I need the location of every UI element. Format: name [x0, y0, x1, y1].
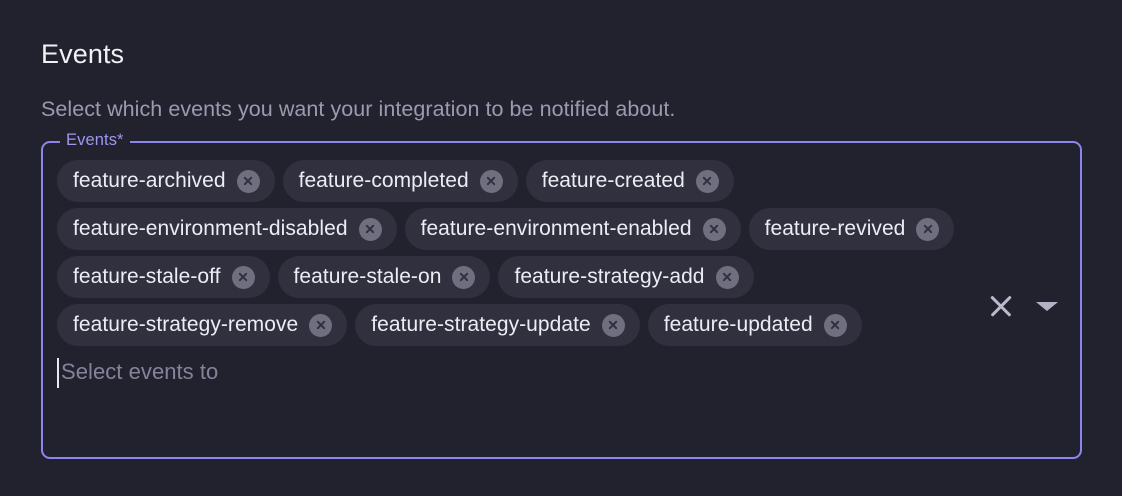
events-field-legend: Events* [60, 132, 130, 149]
events-settings-page: Events Select which events you want your… [0, 0, 1122, 496]
circle-x-icon[interactable] [237, 170, 260, 193]
event-chip-label: feature-updated [664, 314, 813, 335]
event-chip-label: feature-archived [73, 170, 226, 191]
event-chip-label: feature-stale-on [294, 266, 442, 287]
circle-x-icon[interactable] [696, 170, 719, 193]
event-chip-label: feature-strategy-add [514, 266, 704, 287]
text-caret [57, 358, 59, 388]
circle-x-icon[interactable] [916, 218, 939, 241]
event-chip-label: feature-stale-off [73, 266, 221, 287]
event-chip[interactable]: feature-completed [283, 160, 518, 202]
circle-x-icon[interactable] [703, 218, 726, 241]
page-description: Select which events you want your integr… [41, 96, 1082, 124]
event-chip[interactable]: feature-strategy-add [498, 256, 753, 298]
circle-x-icon[interactable] [480, 170, 503, 193]
event-chip-label: feature-environment-disabled [73, 218, 348, 239]
circle-x-icon[interactable] [309, 314, 332, 337]
event-chip[interactable]: feature-stale-off [57, 256, 270, 298]
event-chip[interactable]: feature-strategy-remove [57, 304, 347, 346]
circle-x-icon[interactable] [716, 266, 739, 289]
select-controls [988, 293, 1058, 319]
event-chip[interactable]: feature-revived [749, 208, 955, 250]
event-chip[interactable]: feature-strategy-update [355, 304, 639, 346]
events-search-input[interactable]: Select events to [57, 352, 956, 394]
event-chip-label: feature-environment-enabled [421, 218, 692, 239]
event-chip[interactable]: feature-environment-enabled [405, 208, 741, 250]
event-chip-label: feature-strategy-remove [73, 314, 298, 335]
page-title: Events [41, 38, 1082, 70]
event-chip[interactable]: feature-stale-on [278, 256, 491, 298]
circle-x-icon[interactable] [824, 314, 847, 337]
event-chip-label: feature-completed [299, 170, 469, 191]
clear-all-icon[interactable] [988, 293, 1014, 319]
event-chip-label: feature-created [542, 170, 685, 191]
circle-x-icon[interactable] [602, 314, 625, 337]
event-chip-label: feature-revived [765, 218, 906, 239]
circle-x-icon[interactable] [232, 266, 255, 289]
chevron-down-icon[interactable] [1036, 302, 1058, 311]
circle-x-icon[interactable] [359, 218, 382, 241]
circle-x-icon[interactable] [452, 266, 475, 289]
event-chip[interactable]: feature-environment-disabled [57, 208, 397, 250]
events-input-placeholder: Select events to [61, 361, 218, 383]
event-chip[interactable]: feature-updated [648, 304, 862, 346]
events-multiselect[interactable]: Events* feature-archivedfeature-complete… [41, 141, 1082, 459]
event-chip[interactable]: feature-archived [57, 160, 275, 202]
selected-events-chip-list: feature-archivedfeature-completedfeature… [57, 160, 1066, 394]
event-chip[interactable]: feature-created [526, 160, 734, 202]
event-chip-label: feature-strategy-update [371, 314, 590, 335]
